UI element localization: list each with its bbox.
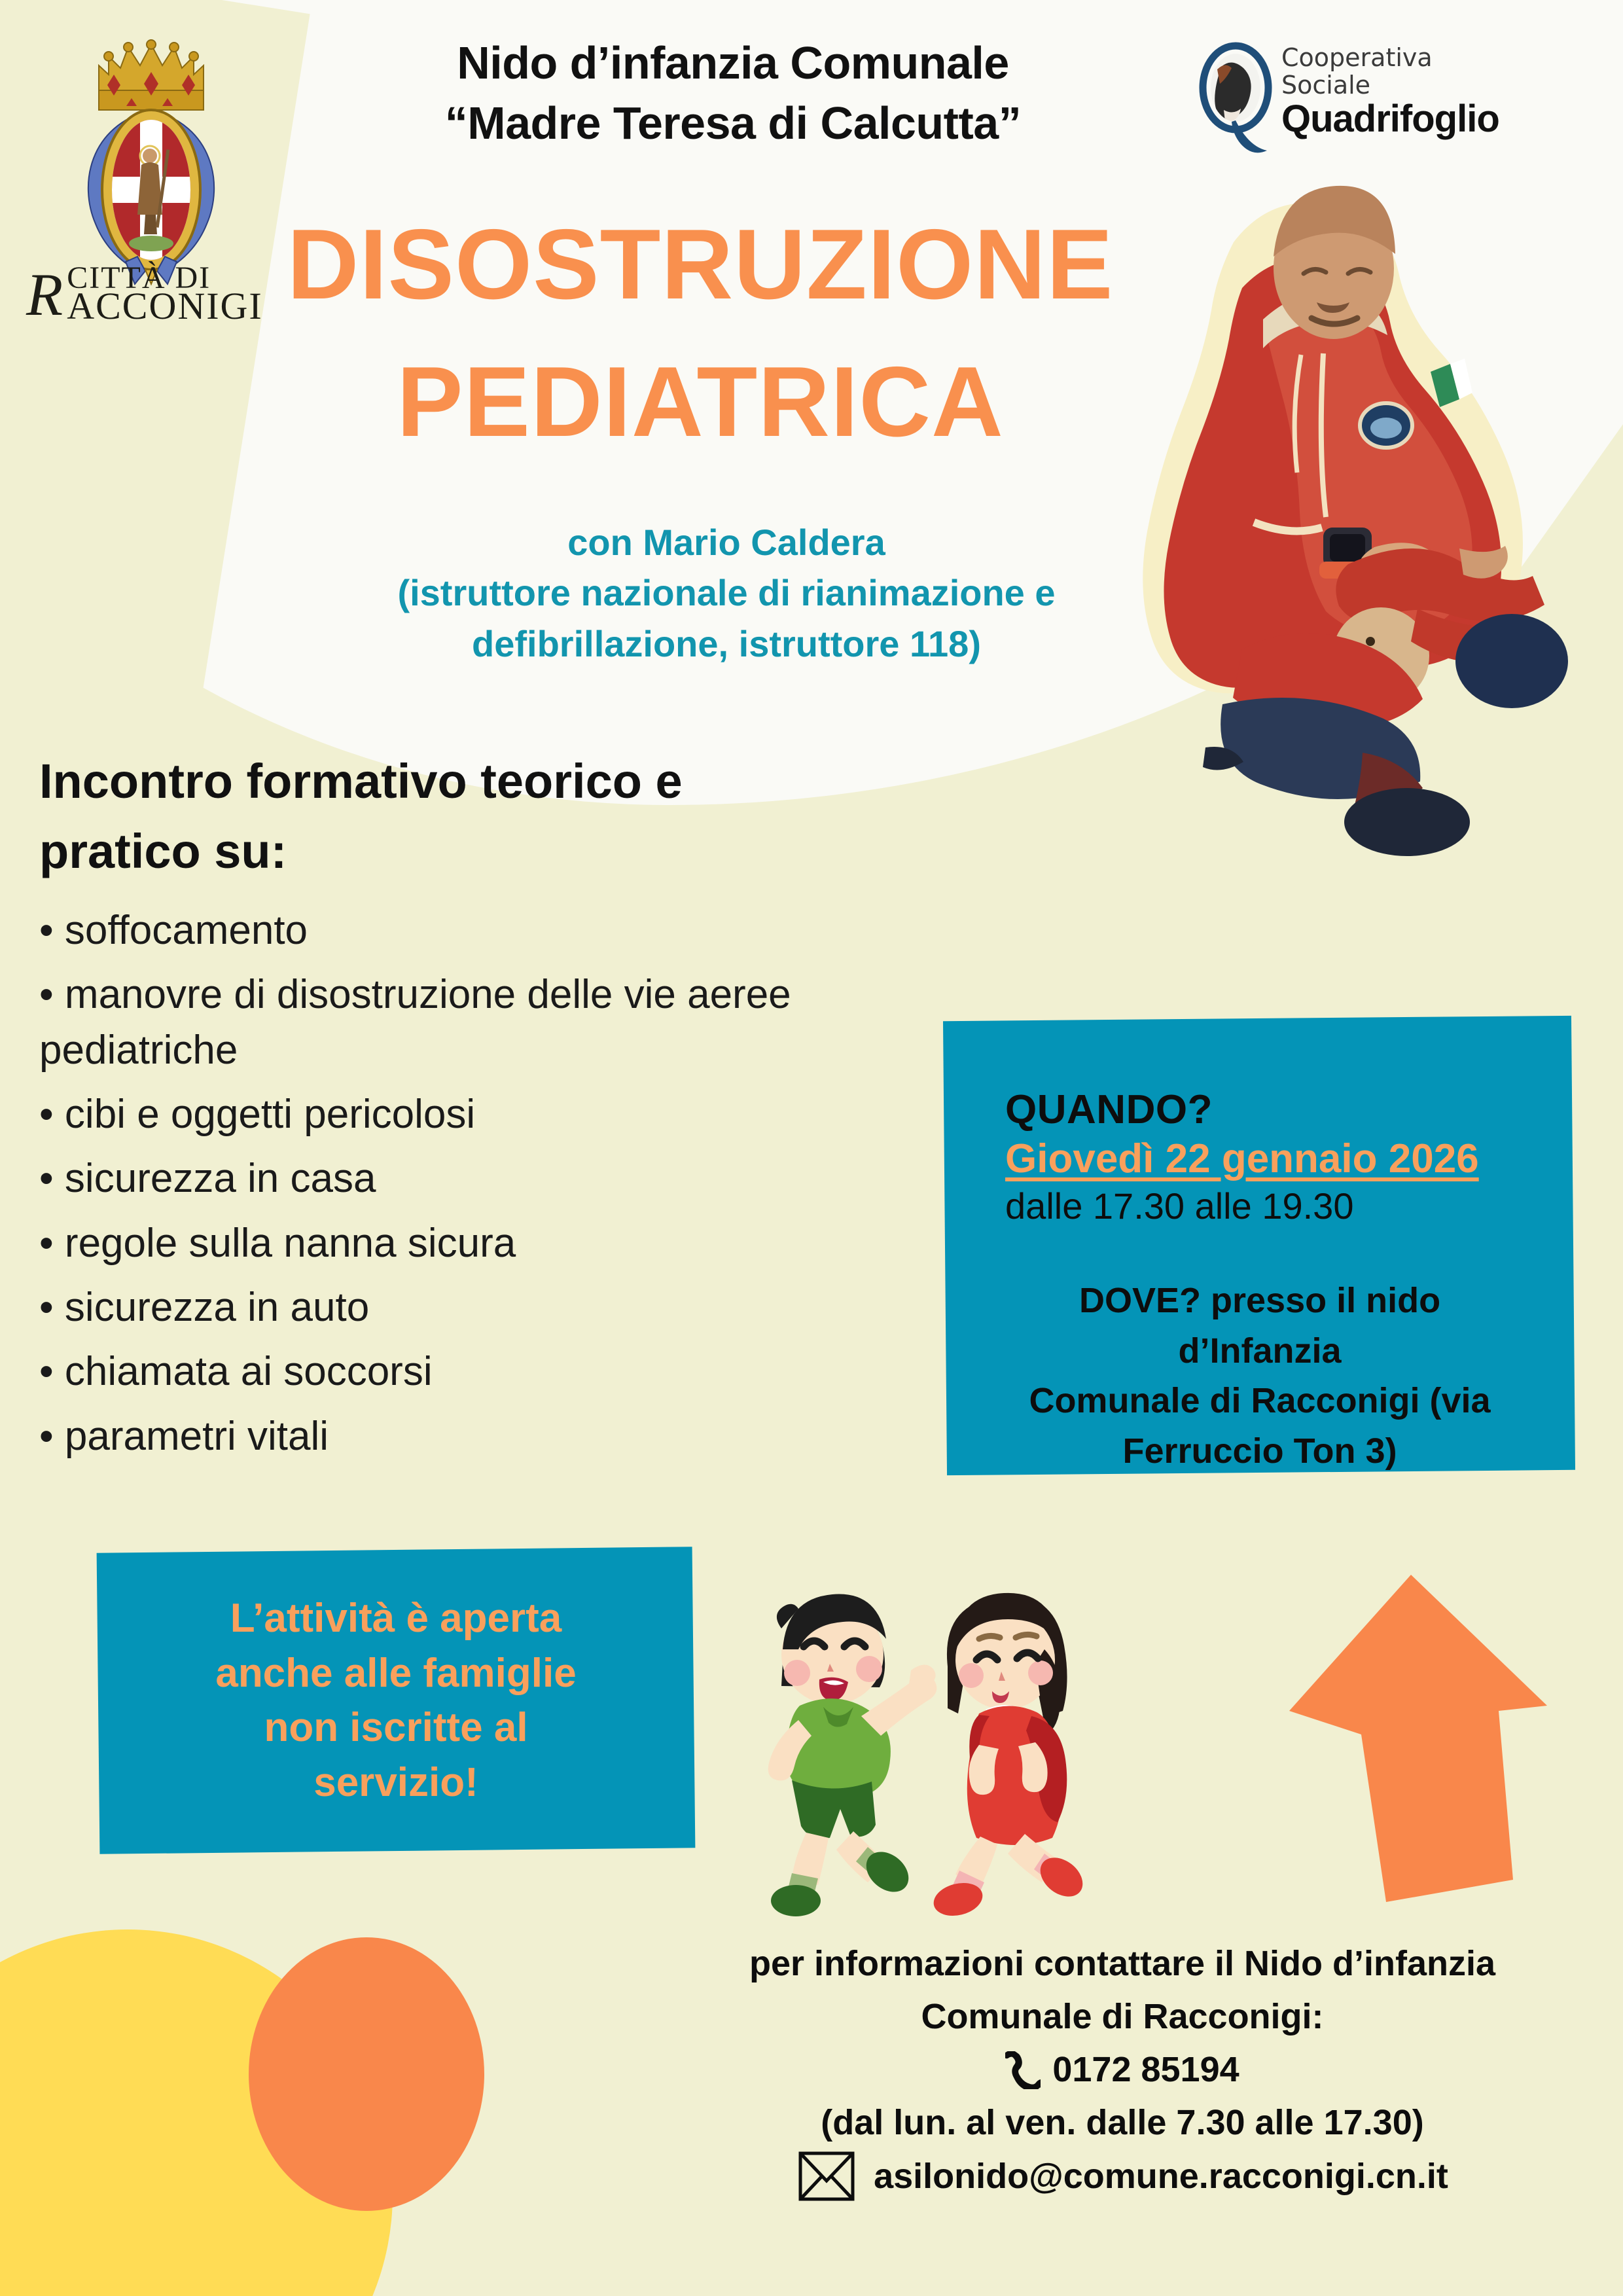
open-line2: anche alle famiglie (98, 1645, 694, 1700)
page-title-line2: “Madre Teresa di Calcutta” (340, 93, 1126, 153)
list-item: • soffocamento (39, 903, 903, 958)
envelope-icon (796, 2149, 857, 2203)
program-lead-line2: pratico su: (39, 816, 811, 886)
page-title: Nido d’infanzia Comunale “Madre Teresa d… (340, 33, 1126, 154)
main-heading-line1: DISOSTRUZIONE (287, 209, 1114, 320)
coop-line3: Quadrifoglio (1281, 99, 1499, 139)
when-where-box: QUANDO? Giovedì 22 gennaio 2026 dalle 17… (943, 1016, 1575, 1475)
main-heading-line2: PEDIATRICA (216, 334, 1185, 471)
open-to-families-box: L’attività è aperta anche alle famiglie … (97, 1547, 696, 1854)
list-item: • manovre di disostruzione delle vie aer… (39, 967, 903, 1078)
phone-icon (1005, 2051, 1041, 2089)
speaker-name: con Mario Caldera (340, 517, 1113, 567)
instructor-photo (1067, 164, 1584, 936)
program-lead: Incontro formativo teorico e pratico su: (39, 746, 811, 887)
list-item: • cibi e oggetti pericolosi (39, 1087, 903, 1142)
list-item: • regole sulla nanna sicura (39, 1216, 903, 1271)
list-item: • chiamata ai soccorsi (39, 1344, 903, 1399)
event-date: Giovedì 22 gennaio 2026 (1005, 1136, 1537, 1182)
orange-down-arrow-icon (1283, 1571, 1558, 1911)
speaker-credentials-line2: defibrillazione, istruttore 118) (340, 619, 1113, 669)
where-line2: Comunale di Racconigi (via (1005, 1376, 1514, 1426)
when-label: QUANDO? (1005, 1086, 1537, 1133)
program-lead-line1: Incontro formativo teorico e (39, 746, 811, 816)
contact-email[interactable]: asilonido@comune.racconigi.cn.it (874, 2150, 1448, 2203)
poster: R CITTÀ DI ACCONIGI Nido d’infanzia Comu… (0, 0, 1623, 2296)
where-text: DOVE? presso il nido d’Infanzia Comunale… (1005, 1276, 1537, 1477)
speaker-subtitle: con Mario Caldera (istruttore nazionale … (340, 517, 1113, 669)
event-time: dalle 17.30 alle 19.30 (1005, 1185, 1537, 1227)
contact-phone[interactable]: 0172 85194 (1052, 2043, 1239, 2096)
coop-line2: Sociale (1281, 72, 1499, 99)
list-item: • parametri vitali (39, 1409, 903, 1464)
list-item: • sicurezza in casa (39, 1151, 903, 1206)
list-item: • sicurezza in auto (39, 1280, 903, 1335)
contact-line1: per informazioni contattare il Nido d’in… (654, 1937, 1590, 1990)
speaker-credentials-line1: (istruttore nazionale di rianimazione e (340, 567, 1113, 618)
main-heading: DISOSTRUZIONE PEDIATRICA (216, 196, 1185, 471)
coop-line1: Cooperativa (1281, 45, 1499, 72)
open-line3: non iscritte al (98, 1700, 694, 1755)
where-line3: Ferruccio Ton 3) (1005, 1426, 1514, 1477)
page-title-line1: Nido d’infanzia Comunale (340, 33, 1126, 93)
cooperativa-quadrifoglio-logo: Cooperativa Sociale Quadrifoglio (1198, 41, 1518, 185)
city-wordmark-initial: R (26, 272, 63, 319)
where-line1: DOVE? presso il nido d’Infanzia (1005, 1276, 1514, 1376)
open-line1: L’attività è aperta (98, 1591, 694, 1646)
contact-line2: Comunale di Racconigi: (654, 1990, 1590, 2043)
two-running-children-icon (720, 1551, 1178, 1918)
contact-footer: per informazioni contattare il Nido d’in… (654, 1937, 1590, 2203)
quadrifoglio-q-icon (1198, 41, 1283, 165)
contact-hours: (dal lun. al ven. dalle 7.30 alle 17.30) (654, 2096, 1590, 2149)
open-line4: servizio! (98, 1755, 694, 1810)
racconigi-coat-of-arms-icon (63, 27, 240, 289)
program-topic-list: • soffocamento • manovre di disostruzion… (39, 903, 903, 1473)
